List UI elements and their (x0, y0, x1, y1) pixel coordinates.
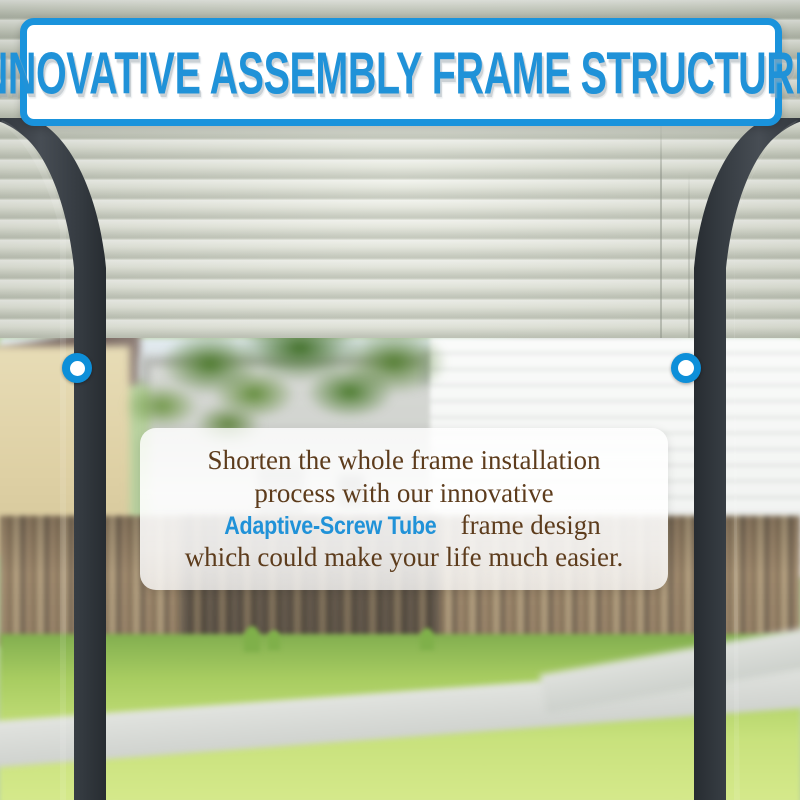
weed-tuft (420, 628, 434, 650)
callout-panel: Shorten the whole frame installation pro… (140, 428, 668, 590)
headline-banner: INNOVATIVE ASSEMBLY FRAME STRUCTURE! (20, 18, 782, 126)
callout-line-1: Shorten the whole frame installation (208, 444, 601, 476)
callout-keyword: Adaptive-Screw Tube (224, 511, 436, 541)
hotspot-dot-icon[interactable] (62, 353, 92, 383)
headline-text: INNOVATIVE ASSEMBLY FRAME STRUCTURE! (0, 42, 800, 101)
callout-line-2: process with our innovative (254, 477, 553, 509)
hotspot-ring-icon[interactable] (671, 353, 701, 383)
hotspot-ring-core (678, 360, 694, 376)
callout-line-3: Adaptive-Screw Tube frame design (207, 509, 601, 541)
callout-line-3-rest: frame design (454, 510, 601, 540)
hotspot-dot-core (70, 361, 85, 376)
callout-line-4: which could make your life much easier. (185, 541, 624, 573)
product-feature-image: INNOVATIVE ASSEMBLY FRAME STRUCTURE! Sho… (0, 0, 800, 800)
